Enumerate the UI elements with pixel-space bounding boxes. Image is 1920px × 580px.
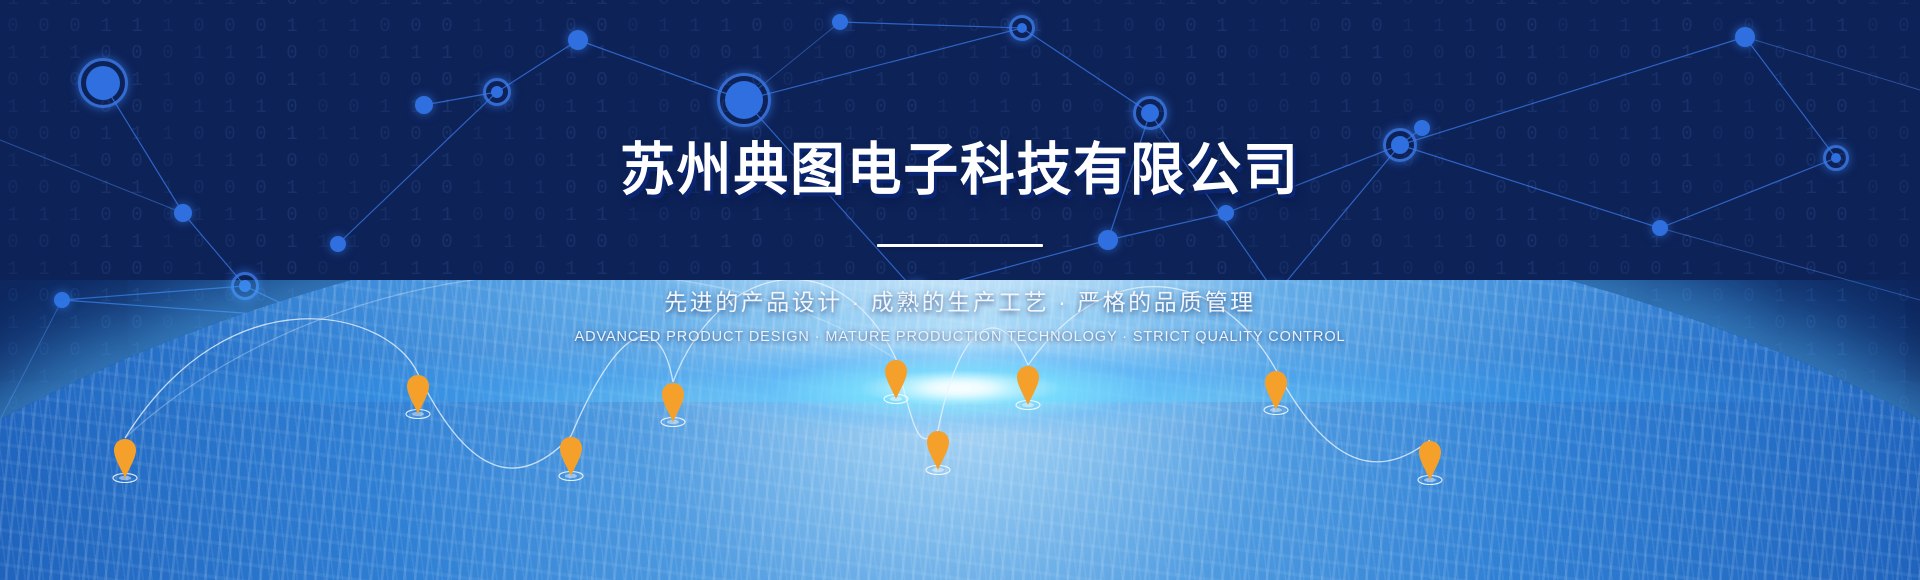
page-title: 苏州典图电子科技有限公司 (38, 140, 1881, 200)
subtitle-chinese: 先进的产品设计 · 成熟的生产工艺 · 严格的品质管理 (0, 283, 1920, 317)
subtitle-english: ADVANCED PRODUCT DESIGN · MATURE PRODUCT… (0, 329, 1920, 345)
map-pin-icon (883, 359, 909, 405)
marker-8[interactable] (1263, 370, 1289, 416)
map-pin-icon (405, 374, 431, 420)
map-pin-icon (1417, 440, 1443, 486)
marker-6[interactable] (925, 430, 951, 476)
marker-1[interactable] (112, 438, 138, 484)
map-pin-icon (558, 436, 584, 482)
hero-banner: 1 0 1 0 1 0 1 0 1 0 1 0 1 0 1 0 1 0 1 0 … (0, 0, 1920, 580)
map-pin-icon (112, 438, 138, 484)
banner-content: 苏州典图电子科技有限公司 先进的产品设计 · 成熟的生产工艺 · 严格的品质管理… (0, 0, 1920, 345)
marker-2[interactable] (405, 374, 431, 420)
marker-3[interactable] (558, 436, 584, 482)
map-pin-icon (1015, 365, 1041, 411)
map-pin-icon (925, 430, 951, 476)
marker-5[interactable] (883, 359, 909, 405)
map-pin-icon (1263, 370, 1289, 416)
map-pin-icon (660, 382, 686, 428)
title-divider (877, 244, 1043, 247)
marker-9[interactable] (1417, 440, 1443, 486)
marker-7[interactable] (1015, 365, 1041, 411)
marker-4[interactable] (660, 382, 686, 428)
